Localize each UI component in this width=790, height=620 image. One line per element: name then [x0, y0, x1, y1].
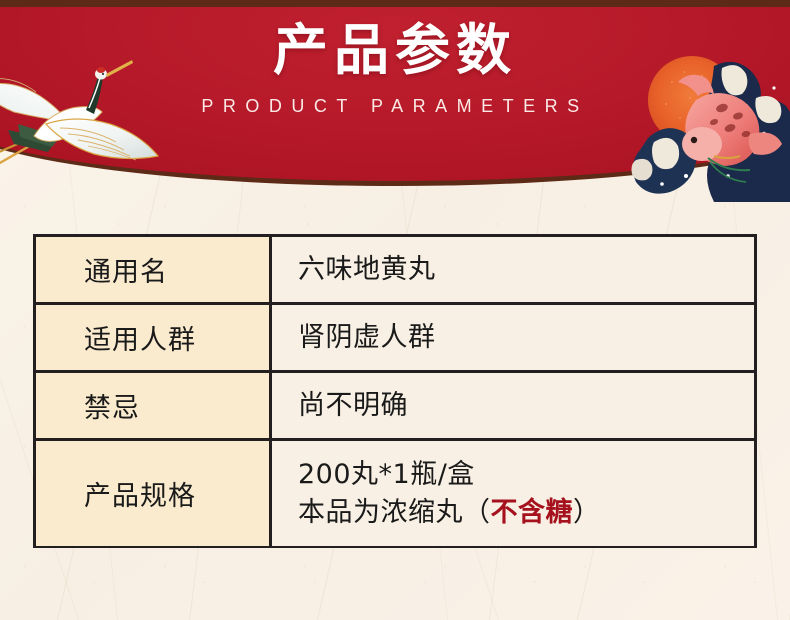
- value-line-concentrated: 本品为浓缩丸（不含糖）: [298, 494, 754, 531]
- row-label-target-group: 适用人群: [36, 305, 272, 370]
- value-line-spec: 200丸*1瓶/盒: [298, 456, 754, 493]
- value-line: 肾阴虚人群: [298, 319, 754, 356]
- line2-suffix: ）: [573, 497, 601, 528]
- table-row: 适用人群 肾阴虚人群: [36, 305, 754, 373]
- value-line: 尚不明确: [298, 387, 754, 424]
- row-value-target-group: 肾阴虚人群: [272, 305, 754, 370]
- table-row: 通用名 六味地黄丸: [36, 237, 754, 305]
- header-top-border: [0, 0, 790, 7]
- row-value-contraindications: 尚不明确: [272, 373, 754, 438]
- page-title: 产品参数: [0, 22, 790, 80]
- row-value-specification: 200丸*1瓶/盒 本品为浓缩丸（不含糖）: [272, 441, 754, 546]
- page-subtitle: PRODUCT PARAMETERS: [0, 96, 790, 117]
- row-label-contraindications: 禁忌: [36, 373, 272, 438]
- line2-prefix: 本品为浓缩丸（: [298, 497, 491, 528]
- title-block: 产品参数 PRODUCT PARAMETERS: [0, 22, 790, 117]
- table-row: 产品规格 200丸*1瓶/盒 本品为浓缩丸（不含糖）: [36, 441, 754, 546]
- no-sugar-badge: 不含糖: [491, 497, 574, 528]
- parameter-table: 通用名 六味地黄丸 适用人群 肾阴虚人群 禁忌 尚不明确 产品规格 200丸*1…: [33, 234, 757, 548]
- value-line: 六味地黄丸: [298, 251, 754, 288]
- row-label-generic-name: 通用名: [36, 237, 272, 302]
- table-row: 禁忌 尚不明确: [36, 373, 754, 441]
- row-label-specification: 产品规格: [36, 441, 272, 546]
- row-value-generic-name: 六味地黄丸: [272, 237, 754, 302]
